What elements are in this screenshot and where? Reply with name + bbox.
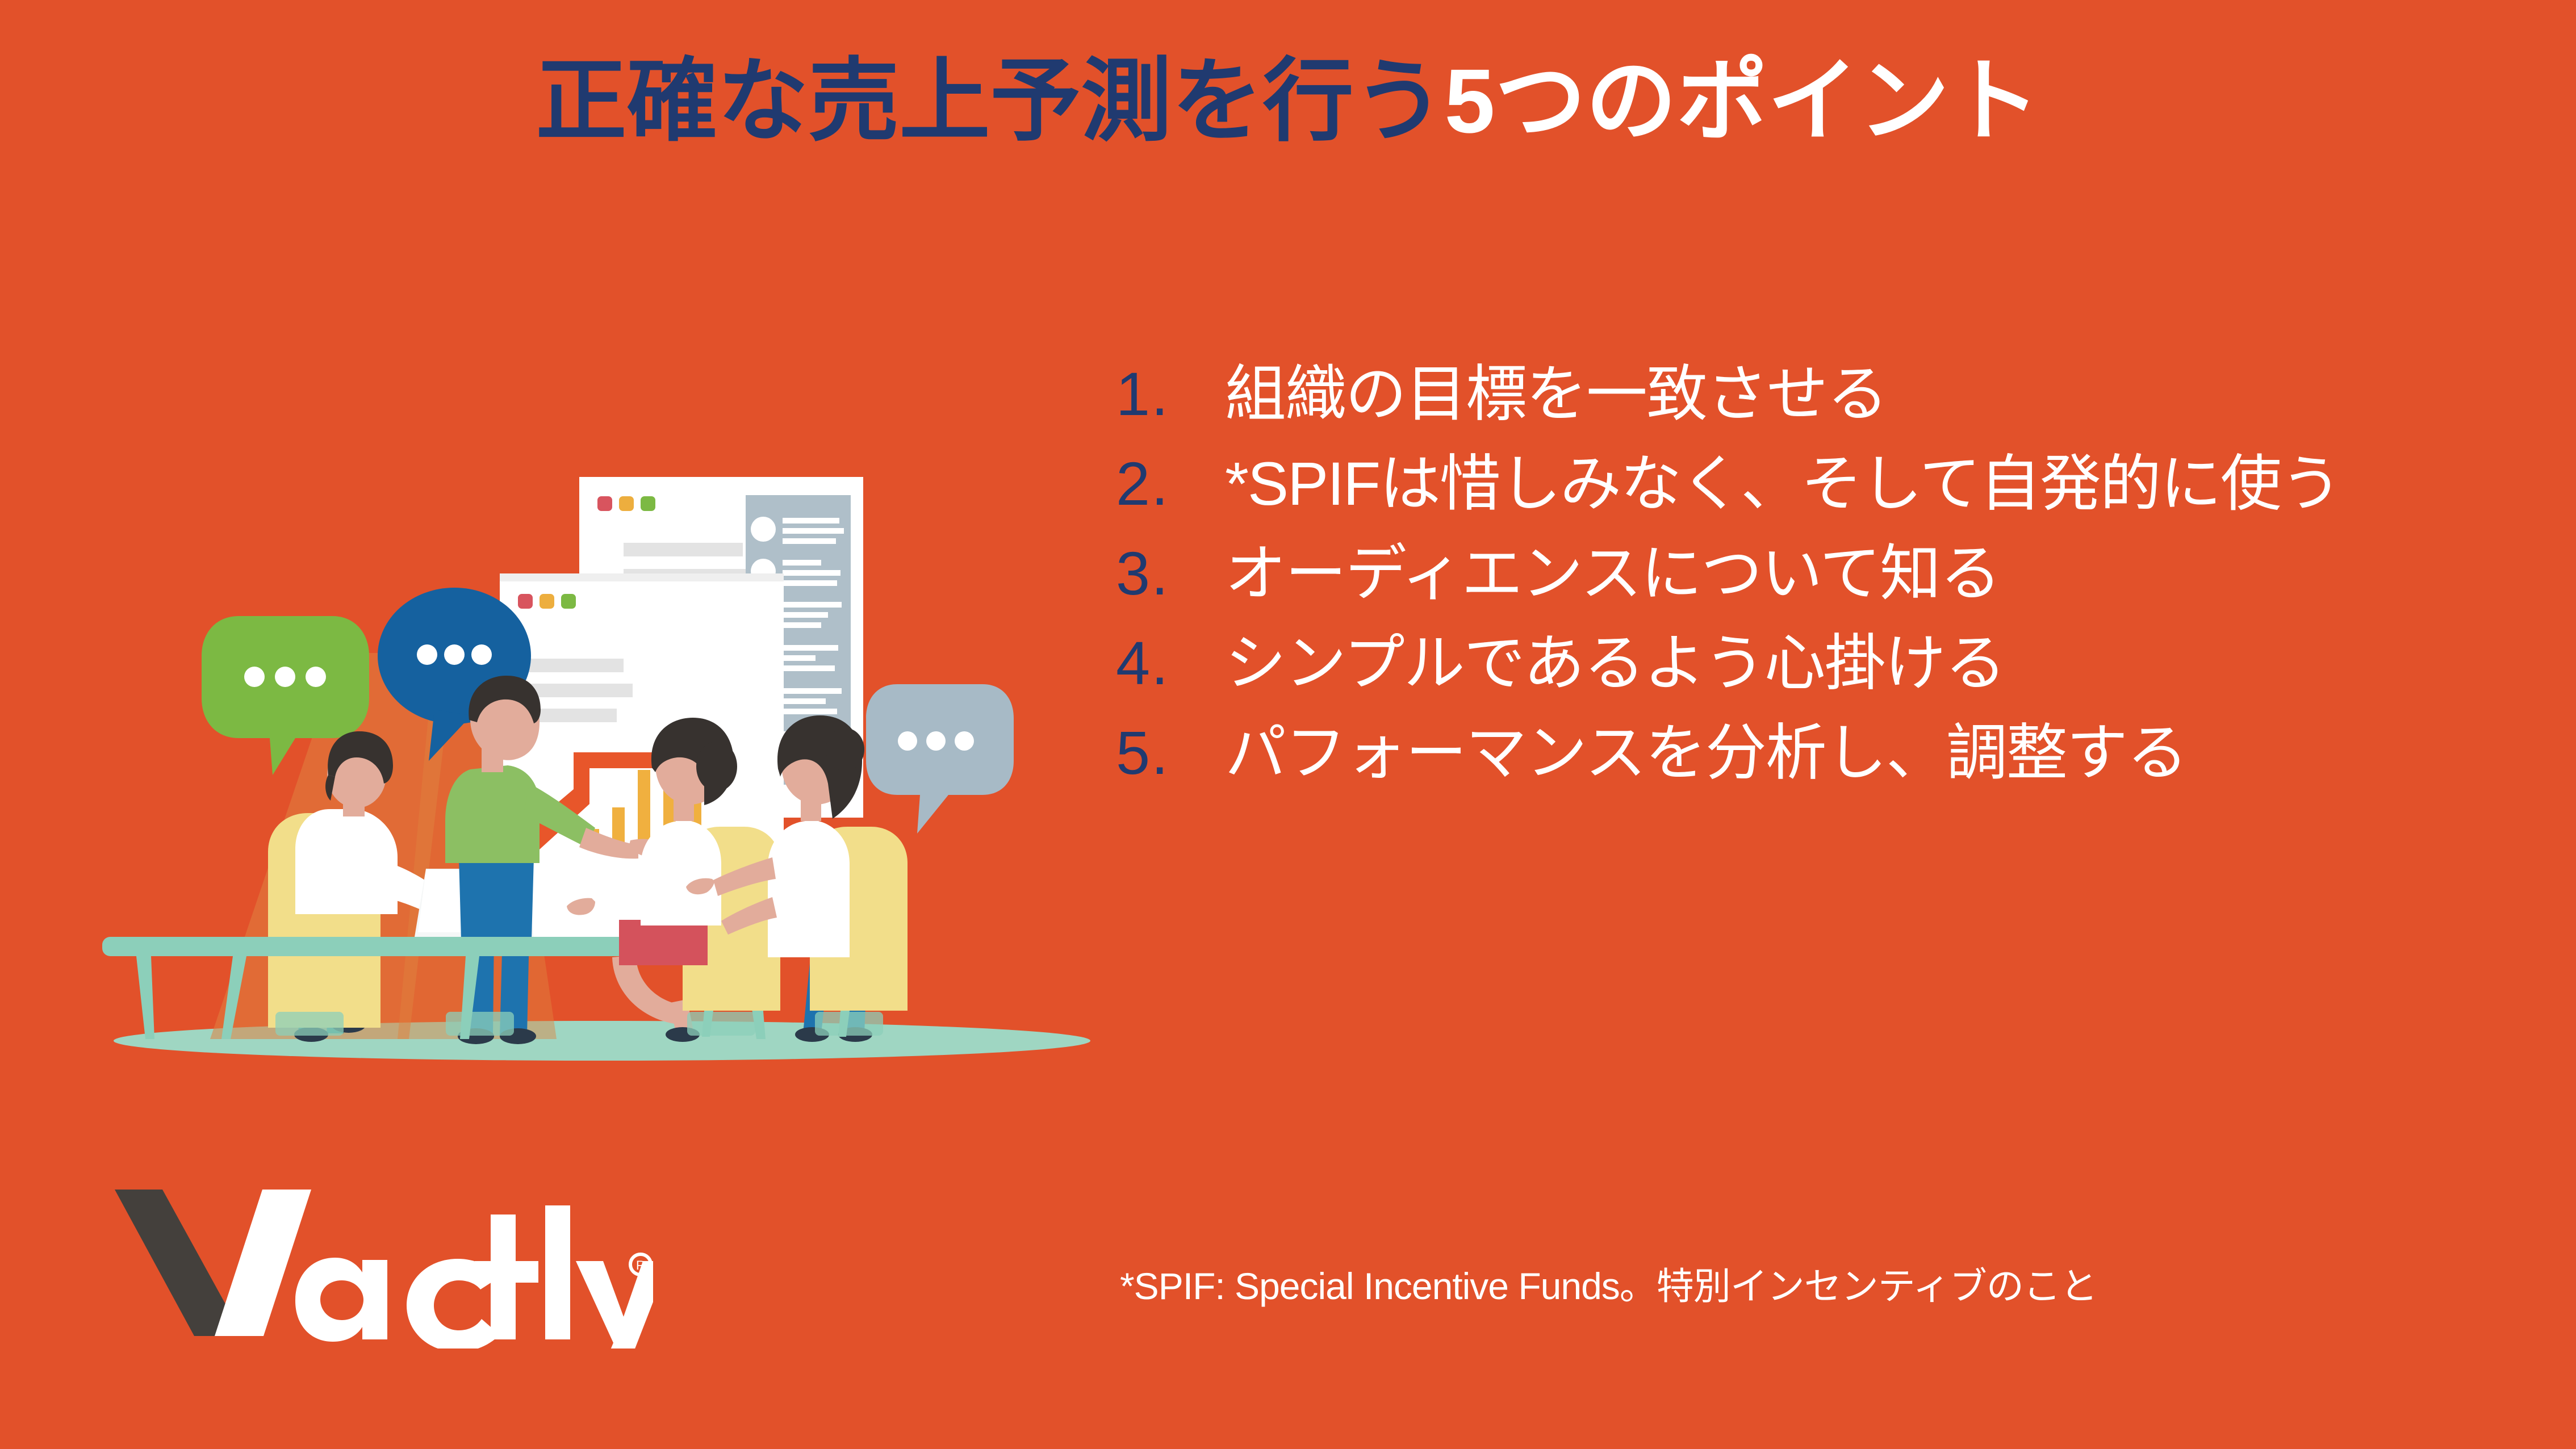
page-title: 正確な売上予測を行う5つのポイント: [0, 51, 2576, 151]
torso: [768, 820, 850, 957]
hair-bun: [826, 728, 864, 771]
list-item: 2. *SPIFは惜しみなく、そして自発的に使う: [1116, 453, 2536, 543]
list-item-number: 4.: [1116, 633, 1184, 694]
list-item-number: 2.: [1116, 453, 1184, 514]
list-item-label: パフォーマンスを分析し、調整する: [1225, 722, 2187, 784]
skirt: [619, 920, 708, 965]
window-dot-yellow: [540, 594, 554, 609]
window-dot-green: [641, 496, 655, 511]
window-dot-green: [561, 594, 576, 609]
list-item-number: 5.: [1116, 722, 1184, 784]
slide-canvas: 正確な売上予測を行う5つのポイント: [0, 0, 2576, 1449]
logo-letter-t: [475, 1215, 538, 1339]
list-item-label: 組織の目標を一致させる: [1225, 363, 1887, 425]
leg: [612, 955, 683, 1024]
chair-base-pad: [815, 1012, 883, 1036]
window-dot-red: [597, 496, 612, 511]
xactly-logo: R: [108, 1178, 653, 1349]
chair-base-pad: [275, 1012, 344, 1036]
list-item-number: 1.: [1116, 363, 1184, 425]
speech-bubble-grey: [866, 684, 1014, 834]
list-item-label: シンプルであるよう心掛ける: [1225, 633, 2005, 694]
chair-base-pad: [446, 1012, 514, 1036]
torso: [641, 820, 721, 925]
footnote: *SPIF: Special Incentive Funds。特別インセンティブ…: [1120, 1264, 2097, 1309]
list-item-number: 3.: [1116, 543, 1184, 604]
window-dot-red: [518, 594, 533, 609]
svg-text:R: R: [636, 1258, 645, 1272]
list-item: 5. パフォーマンスを分析し、調整する: [1116, 722, 2536, 812]
logo-letter-a: [295, 1258, 387, 1342]
window-dot-yellow: [619, 496, 634, 511]
list-item-label: *SPIFは惜しみなく、そして自発的に使う: [1225, 453, 2341, 514]
hips: [459, 857, 534, 940]
business-meeting-illustration: [102, 466, 1102, 1079]
list-item: 4. シンプルであるよう心掛ける: [1116, 633, 2536, 722]
title-navy-part: 正確な売上予測を行う: [536, 50, 1444, 152]
logo-x-white-stroke: [215, 1190, 311, 1336]
logo-letter-l: [545, 1205, 570, 1339]
list-item: 3. オーディエンスについて知る: [1116, 543, 2536, 633]
title-white-part: 5つのポイント: [1445, 50, 2040, 152]
list-item: 1. 組織の目標を一致させる: [1116, 363, 2536, 453]
chair-base-pad: [687, 1012, 755, 1036]
list-item-label: オーディエンスについて知る: [1225, 543, 2000, 604]
hair-bun: [696, 742, 737, 791]
torso: [295, 809, 398, 914]
key-points-list: 1. 組織の目標を一致させる 2. *SPIFは惜しみなく、そして自発的に使う …: [1116, 363, 2536, 812]
